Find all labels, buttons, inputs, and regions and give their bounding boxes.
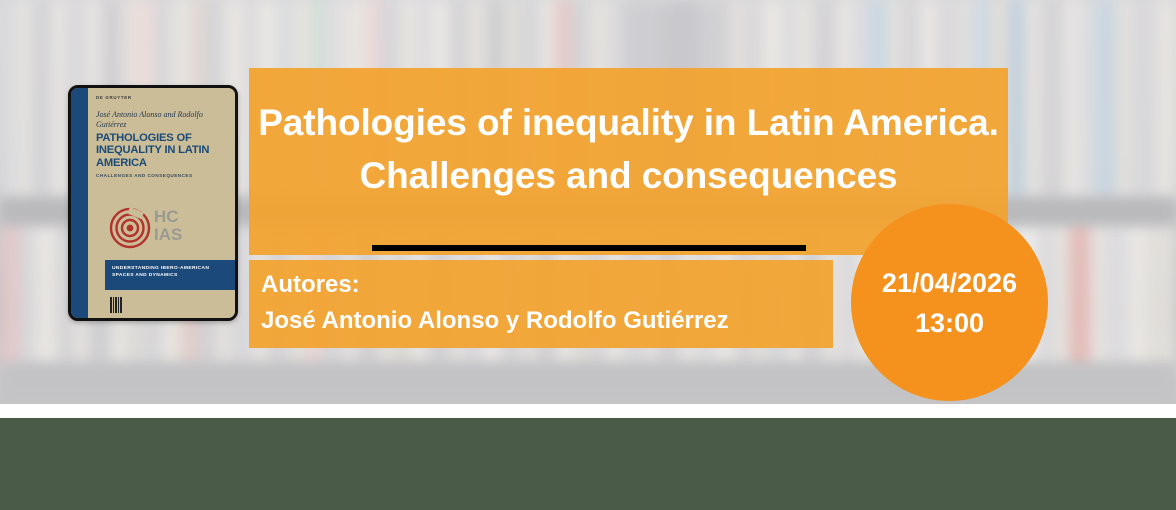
book-cover-face: DE GRUYTER José Antonio Alonso and Rodol… [88, 88, 235, 318]
book-subtitle: CHALLENGES AND CONSEQUENCES [96, 173, 226, 178]
hcias-hc-text: HC [154, 208, 179, 225]
divider-rule [372, 245, 806, 251]
book-cover: DE GRUYTER José Antonio Alonso and Rodol… [68, 85, 238, 321]
page-title: Pathologies of inequality in Latin Ameri… [249, 96, 1008, 202]
authors-names: José Antonio Alonso y Rodolfo Gutiérrez [261, 307, 729, 335]
book-series-text: UNDERSTANDING IBERO-AMERICAN SPACES AND … [105, 260, 235, 284]
event-date-badge: 21/04/2026 13:00 [851, 204, 1048, 401]
event-date: 21/04/2026 [882, 263, 1017, 303]
footer-bar: URJC e Facultad de Ciencias de la Econom… [0, 418, 1176, 510]
book-title: PATHOLOGIES OF INEQUALITY IN LATIN AMERI… [96, 132, 234, 169]
book-series-band: UNDERSTANDING IBERO-AMERICAN SPACES AND … [105, 260, 235, 290]
book-barcode-icon [110, 297, 122, 313]
book-authors: José Antonio Alonso and Rodolfo Gutiérre… [96, 110, 226, 130]
white-separator [0, 404, 1176, 418]
book-spine [71, 88, 88, 318]
hcias-spiral-icon [108, 206, 152, 250]
event-time: 13:00 [915, 303, 984, 343]
hcias-logo: HC IAS [108, 206, 228, 250]
hcias-ias-text: IAS [154, 226, 182, 243]
authors-band: Autores: José Antonio Alonso y Rodolfo G… [249, 260, 833, 348]
book-publisher: DE GRUYTER [96, 95, 132, 100]
poster-root: DE GRUYTER José Antonio Alonso and Rodol… [0, 0, 1176, 510]
authors-label: Autores: [261, 271, 360, 299]
